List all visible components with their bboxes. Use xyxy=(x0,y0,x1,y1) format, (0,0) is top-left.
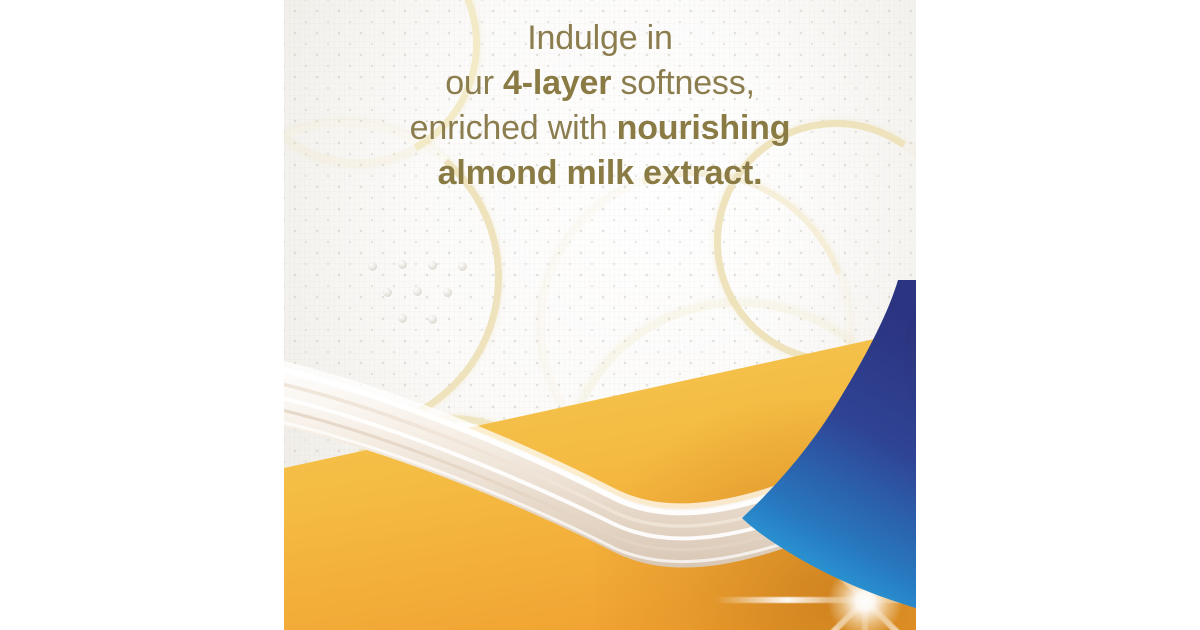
product-creative-panel: Indulge in our 4-layer softness, enriche… xyxy=(284,0,916,630)
embossed-dot-cluster xyxy=(366,258,476,338)
headline-line-4-bold: almond milk extract. xyxy=(438,154,763,192)
headline-line-3-pre: enriched with xyxy=(410,109,617,147)
headline-line-2-bold: 4-layer xyxy=(503,64,611,102)
headline-line-2-pre: our xyxy=(445,64,503,102)
headline-line-2: our 4-layer softness, xyxy=(298,61,902,106)
headline-copy: Indulge in our 4-layer softness, enriche… xyxy=(284,16,916,196)
headline-line-3: enriched with nourishing xyxy=(298,106,902,151)
four-layer-badge[interactable]: 4 xyxy=(744,238,916,468)
headline-line-2-post: softness, xyxy=(611,64,755,102)
creative-canvas: Indulge in our 4-layer softness, enriche… xyxy=(0,0,1200,630)
headline-line-4: almond milk extract. xyxy=(298,151,902,196)
headline-line-3-bold: nourishing xyxy=(617,109,791,147)
headline-line-1: Indulge in xyxy=(298,16,902,61)
